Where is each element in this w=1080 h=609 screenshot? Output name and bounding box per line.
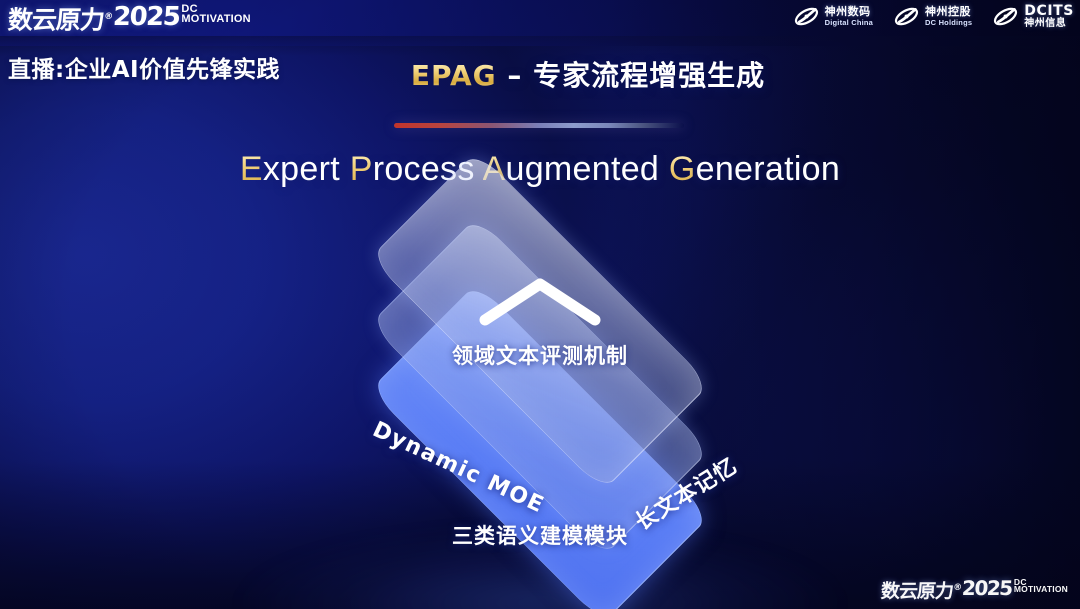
- subtitle-part: P: [350, 150, 373, 188]
- brand-logo-cn: 数云原力®: [7, 2, 113, 35]
- partner-label: 神州数码 Digital China: [825, 6, 873, 26]
- partner-label: DCITS 神州信息: [1024, 4, 1074, 29]
- brand-logo-year: 2025: [112, 2, 180, 32]
- brand-logo-motivation-text: MOTIVATION: [181, 14, 250, 25]
- brand-logo: 数云原力® 2025 DC MOTIVATION: [8, 2, 251, 35]
- partner-name-en: Digital China: [825, 19, 873, 27]
- chevron-up-icon: [477, 274, 603, 328]
- watermark-logo-cn: 数云原力®: [880, 577, 962, 603]
- partner-name-cn: 神州信息: [1024, 19, 1074, 30]
- watermark-logo-year: 2025: [961, 577, 1012, 600]
- layer-stack-diagram: 三类语义建模模块 Dynamic MOE 长文本记忆 领域文本评测机制: [232, 228, 848, 568]
- partner-logo-dc-holdings: 神州控股 DC Holdings: [893, 4, 972, 29]
- subtitle-part: xpert: [263, 150, 350, 188]
- registered-mark-icon: ®: [104, 12, 113, 22]
- stack-layer-bottom-label: 三类语义建模模块: [232, 520, 848, 550]
- stack-layer-top-label: 领域文本评测机制: [232, 340, 848, 370]
- partner-name-cn: 神州数码: [825, 6, 873, 18]
- partner-name-en: DCITS: [1024, 4, 1074, 19]
- partner-name-cn: 神州控股: [925, 6, 972, 18]
- registered-mark-icon: ®: [953, 583, 962, 593]
- swoosh-icon: [893, 4, 920, 29]
- partner-logo-group: 神州数码 Digital China 神州控股 DC Holdings: [793, 4, 1074, 29]
- brand-logo-dc-motivation: DC MOTIVATION: [181, 4, 250, 25]
- slide-stage: 数云原力® 2025 DC MOTIVATION 直播:企业AI价值先锋实践 神…: [0, 0, 1080, 609]
- page-title: EPAG – 专家流程增强生成: [0, 54, 1080, 94]
- swoosh-icon: [793, 4, 820, 29]
- partner-logo-digital-china: 神州数码 Digital China: [793, 4, 873, 29]
- watermark-logo-motivation-text: MOTIVATION: [1014, 585, 1068, 594]
- title-divider: [394, 123, 684, 128]
- swoosh-icon: [992, 4, 1019, 29]
- footer-watermark-logo: 数云原力® 2025 DC MOTIVATION: [881, 577, 1068, 603]
- page-title-acronym: EPAG: [411, 59, 497, 92]
- partner-name-en: DC Holdings: [925, 19, 972, 27]
- page-title-cn: – 专家流程增强生成: [497, 59, 766, 92]
- partner-logo-dcits: DCITS 神州信息: [992, 4, 1074, 29]
- watermark-logo-dc-motivation: DC MOTIVATION: [1014, 578, 1068, 594]
- subtitle-part: eneration: [696, 150, 840, 188]
- partner-label: 神州控股 DC Holdings: [925, 6, 972, 26]
- subtitle-part: E: [240, 150, 263, 188]
